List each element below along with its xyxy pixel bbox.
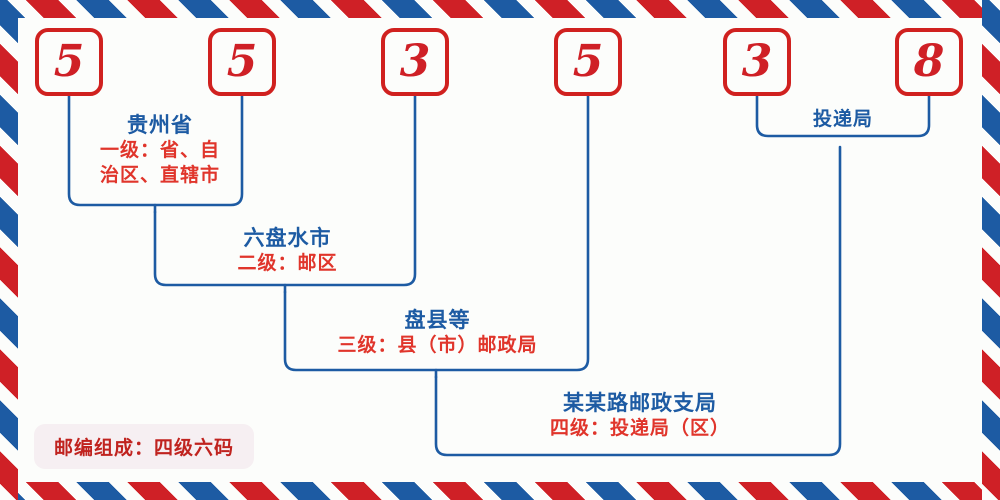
delivery-office-title: 投递局 bbox=[763, 108, 923, 132]
digit-value-2: 5 bbox=[227, 40, 258, 84]
level-3-name: 盘县等 bbox=[295, 307, 580, 333]
level-1-detail-line-1: 一级：省、自 bbox=[75, 138, 245, 163]
level-2-detail-line-1: 二级：邮区 bbox=[165, 251, 410, 276]
label-level-2: 六盘水市 二级：邮区 bbox=[165, 225, 410, 276]
digit-box-5[interactable]: 3 bbox=[723, 28, 791, 96]
level-3-detail: 三级：县（市）邮政局 bbox=[295, 333, 580, 358]
caption-badge: 邮编组成：四级六码 bbox=[34, 424, 254, 469]
digit-value-5: 3 bbox=[742, 40, 773, 84]
level-4-detail-line-1: 四级：投递局（区） bbox=[445, 416, 835, 441]
digit-box-1[interactable]: 5 bbox=[35, 28, 103, 96]
level-4-name: 某某路邮政支局 bbox=[445, 390, 835, 416]
label-level-1: 贵州省 一级：省、自 治区、直辖市 bbox=[75, 112, 245, 188]
digit-value-1: 5 bbox=[54, 40, 85, 84]
label-level-3: 盘县等 三级：县（市）邮政局 bbox=[295, 307, 580, 358]
digit-box-6[interactable]: 8 bbox=[895, 28, 963, 96]
level-1-detail: 一级：省、自 治区、直辖市 bbox=[75, 138, 245, 187]
digit-value-4: 5 bbox=[573, 40, 604, 84]
label-level-4: 某某路邮政支局 四级：投递局（区） bbox=[445, 390, 835, 441]
level-3-detail-line-1: 三级：县（市）邮政局 bbox=[295, 333, 580, 358]
level-2-detail: 二级：邮区 bbox=[165, 251, 410, 276]
level-2-name: 六盘水市 bbox=[165, 225, 410, 251]
digit-box-3[interactable]: 3 bbox=[381, 28, 449, 96]
level-1-name: 贵州省 bbox=[75, 112, 245, 138]
level-4-detail: 四级：投递局（区） bbox=[445, 416, 835, 441]
digit-value-3: 3 bbox=[400, 40, 431, 84]
label-delivery-office: 投递局 bbox=[763, 108, 923, 132]
digit-box-2[interactable]: 5 bbox=[208, 28, 276, 96]
digit-value-6: 8 bbox=[914, 40, 945, 84]
postcode-diagram: 5 5 3 5 3 8 投递局 贵州省 一级：省、自 治区、直辖市 六盘水市 二… bbox=[0, 0, 1000, 500]
digit-box-4[interactable]: 5 bbox=[554, 28, 622, 96]
level-1-detail-line-2: 治区、直辖市 bbox=[75, 163, 245, 188]
